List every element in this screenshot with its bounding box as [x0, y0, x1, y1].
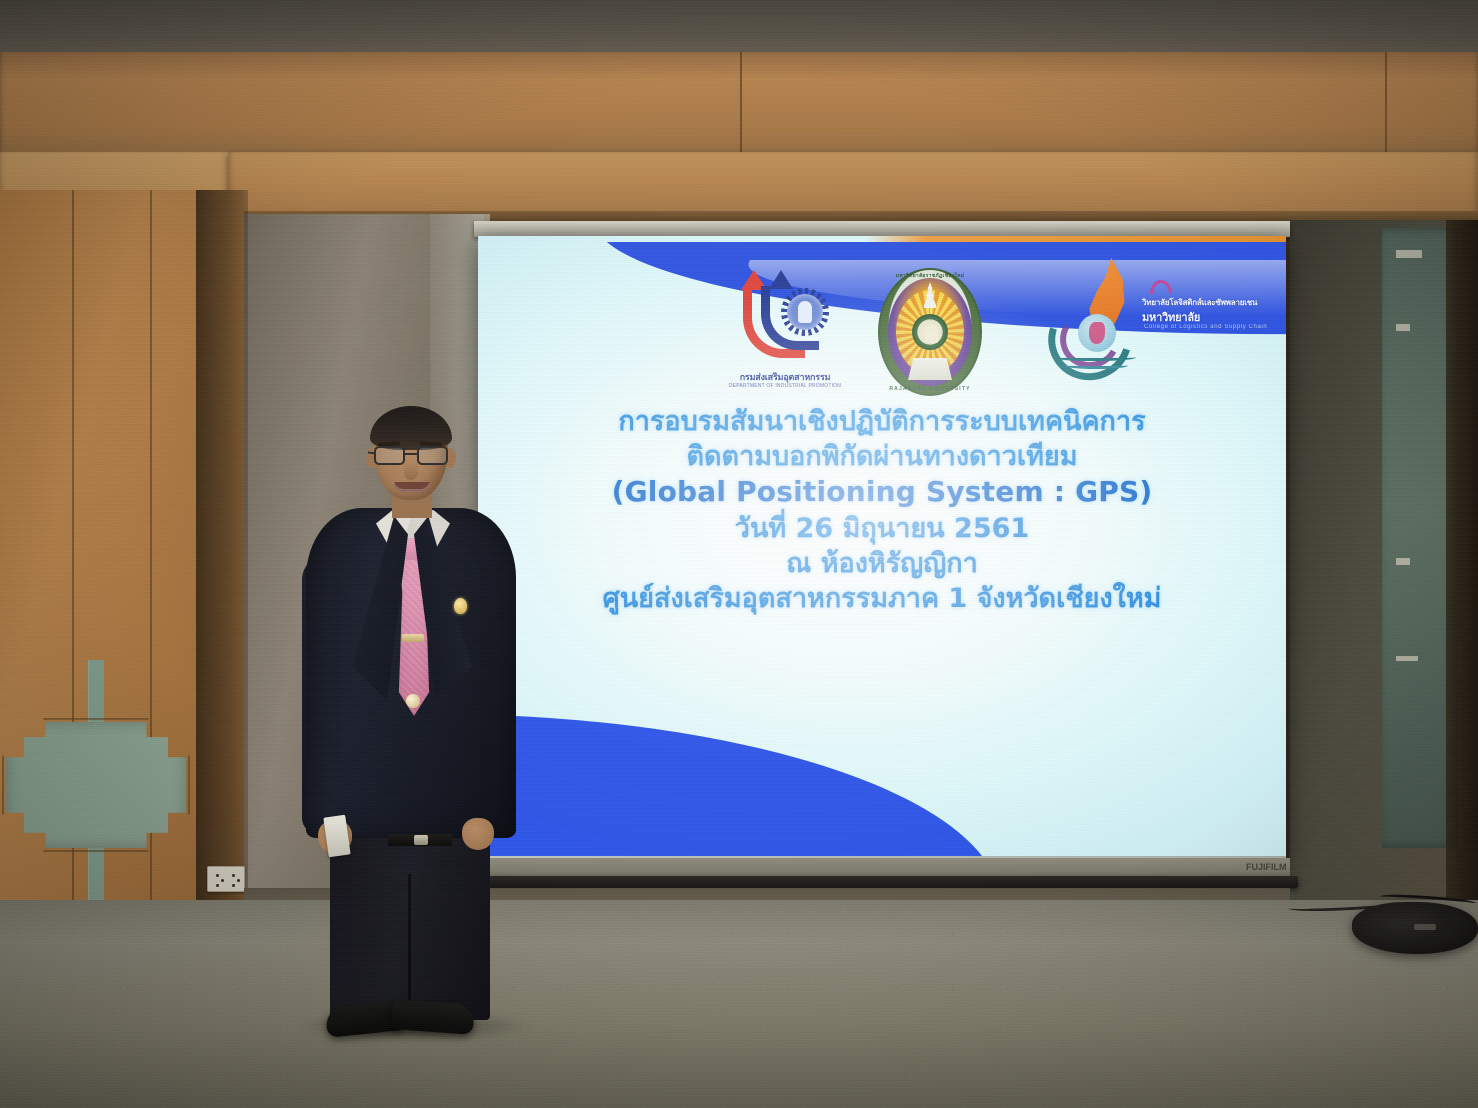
floor-equipment-bag	[1352, 902, 1478, 954]
right-hand	[462, 818, 494, 850]
wall-clip	[1396, 558, 1410, 565]
projector-screen-housing	[474, 221, 1290, 237]
outlet-hole	[232, 884, 235, 887]
wall-power-outlet[interactable]	[207, 866, 245, 892]
seal-base	[908, 358, 952, 380]
slide-line-4: วันที่ 26 มิถุนายน 2561	[478, 511, 1286, 546]
dip-caption-en-text: DEPARTMENT OF INDUSTRIAL PROMOTION	[723, 384, 847, 390]
floor-texture	[0, 900, 1478, 1108]
slide-line-1: การอบรมสัมนาเชิงปฏิบัติการระบบเทคนิคการ	[478, 404, 1286, 439]
outlet-hole	[237, 879, 240, 882]
slide-logo-row: กรมส่งเสริมอุตสาหกรรม DEPARTMENT OF INDU…	[478, 252, 1286, 402]
dip-caption-th: กรมส่งเสริมอุตสาหกรรม	[723, 372, 847, 382]
gear-figure	[798, 301, 812, 323]
glasses-bridge	[405, 453, 417, 455]
wall-clip	[1396, 656, 1418, 661]
wave-line	[1064, 362, 1128, 369]
mouth	[394, 482, 430, 492]
rajabhat-university-seal: มหาวิทยาลัยราชภัฏเชียงใหม่ RAJABHAT UNIV…	[874, 266, 986, 402]
screen-weight-bar	[470, 876, 1298, 888]
wall-clip	[1396, 250, 1422, 258]
slide-bottom-blue-wave	[478, 680, 1198, 856]
seal-caption-en: RAJABHAT UNIVERSITY	[874, 386, 986, 392]
trouser-seam	[408, 874, 411, 1020]
left-lens	[374, 446, 405, 465]
slide-title-block: การอบรมสัมนาเชิงปฏิบัติการระบบเทคนิคการ …	[478, 404, 1286, 616]
belt	[388, 834, 452, 846]
gold-lapel-pin	[454, 598, 467, 614]
dip-mark	[735, 268, 835, 372]
slide-line-3: (Global Positioning System : GPS)	[478, 474, 1286, 510]
presentation-slide: กรมส่งเสริมอุตสาหกรรม DEPARTMENT OF INDU…	[478, 236, 1286, 856]
diamond-motif	[0, 660, 210, 910]
logistics-caption-en: College of Logistics and Supply Chain	[1144, 324, 1286, 330]
logistics-supply-chain-institute-logo: วิทยาลัยโลจิสติกส์และซัพพลายเชน มหาวิทยา…	[1038, 258, 1286, 378]
slide-line-5: ณ ห้องหิรัญญิกา	[478, 546, 1286, 581]
outlet-hole	[232, 874, 235, 877]
screen-brand-suffix: Inc	[1290, 866, 1297, 872]
right-shoe	[391, 999, 475, 1035]
slide-line-2: ติดตามบอกพิกัดผ่านทางดาวเทียม	[478, 439, 1286, 474]
gear-icon	[781, 288, 829, 336]
outlet-hole	[216, 874, 219, 877]
right-lens	[417, 446, 448, 465]
wall-clip	[1396, 324, 1410, 331]
department-of-industrial-promotion-logo: กรมส่งเสริมอุตสาหกรรม DEPARTMENT OF INDU…	[723, 268, 847, 404]
seal-medallion	[912, 314, 948, 350]
screen-brand-label: FUJIFILM Inc	[1246, 862, 1296, 872]
photo-scene: กรมส่งเสริมอุตสาหกรรม DEPARTMENT OF INDU…	[0, 0, 1478, 1108]
beam-seam	[1385, 52, 1387, 160]
upper-wooden-beam	[0, 52, 1478, 160]
outlet-hole	[221, 879, 224, 882]
outlet-hole	[216, 884, 219, 887]
presenter	[296, 404, 516, 1036]
wave-lines-icon	[1052, 354, 1138, 376]
slide-line-6: ศูนย์ส่งเสริมอุตสาหกรรมภาค 1 จังหวัดเชีย…	[478, 581, 1286, 616]
wave-line	[1052, 354, 1136, 361]
screen-brand-text: FUJIFILM	[1246, 862, 1287, 872]
seal-caption-th: มหาวิทยาลัยราชภัฏเชียงใหม่	[874, 272, 986, 280]
floor	[0, 900, 1478, 1108]
dip-caption-en: DEPARTMENT OF INDUSTRIAL PROMOTION	[723, 384, 847, 390]
globe-icon	[1078, 314, 1116, 352]
motif-edge	[2, 718, 190, 852]
crown-icon	[1150, 280, 1172, 294]
projection-screen: กรมส่งเสริมอุตสาหกรรม DEPARTMENT OF INDU…	[478, 236, 1286, 862]
nose	[404, 462, 418, 480]
tie-clip	[402, 634, 424, 642]
tie-pin	[406, 694, 420, 708]
